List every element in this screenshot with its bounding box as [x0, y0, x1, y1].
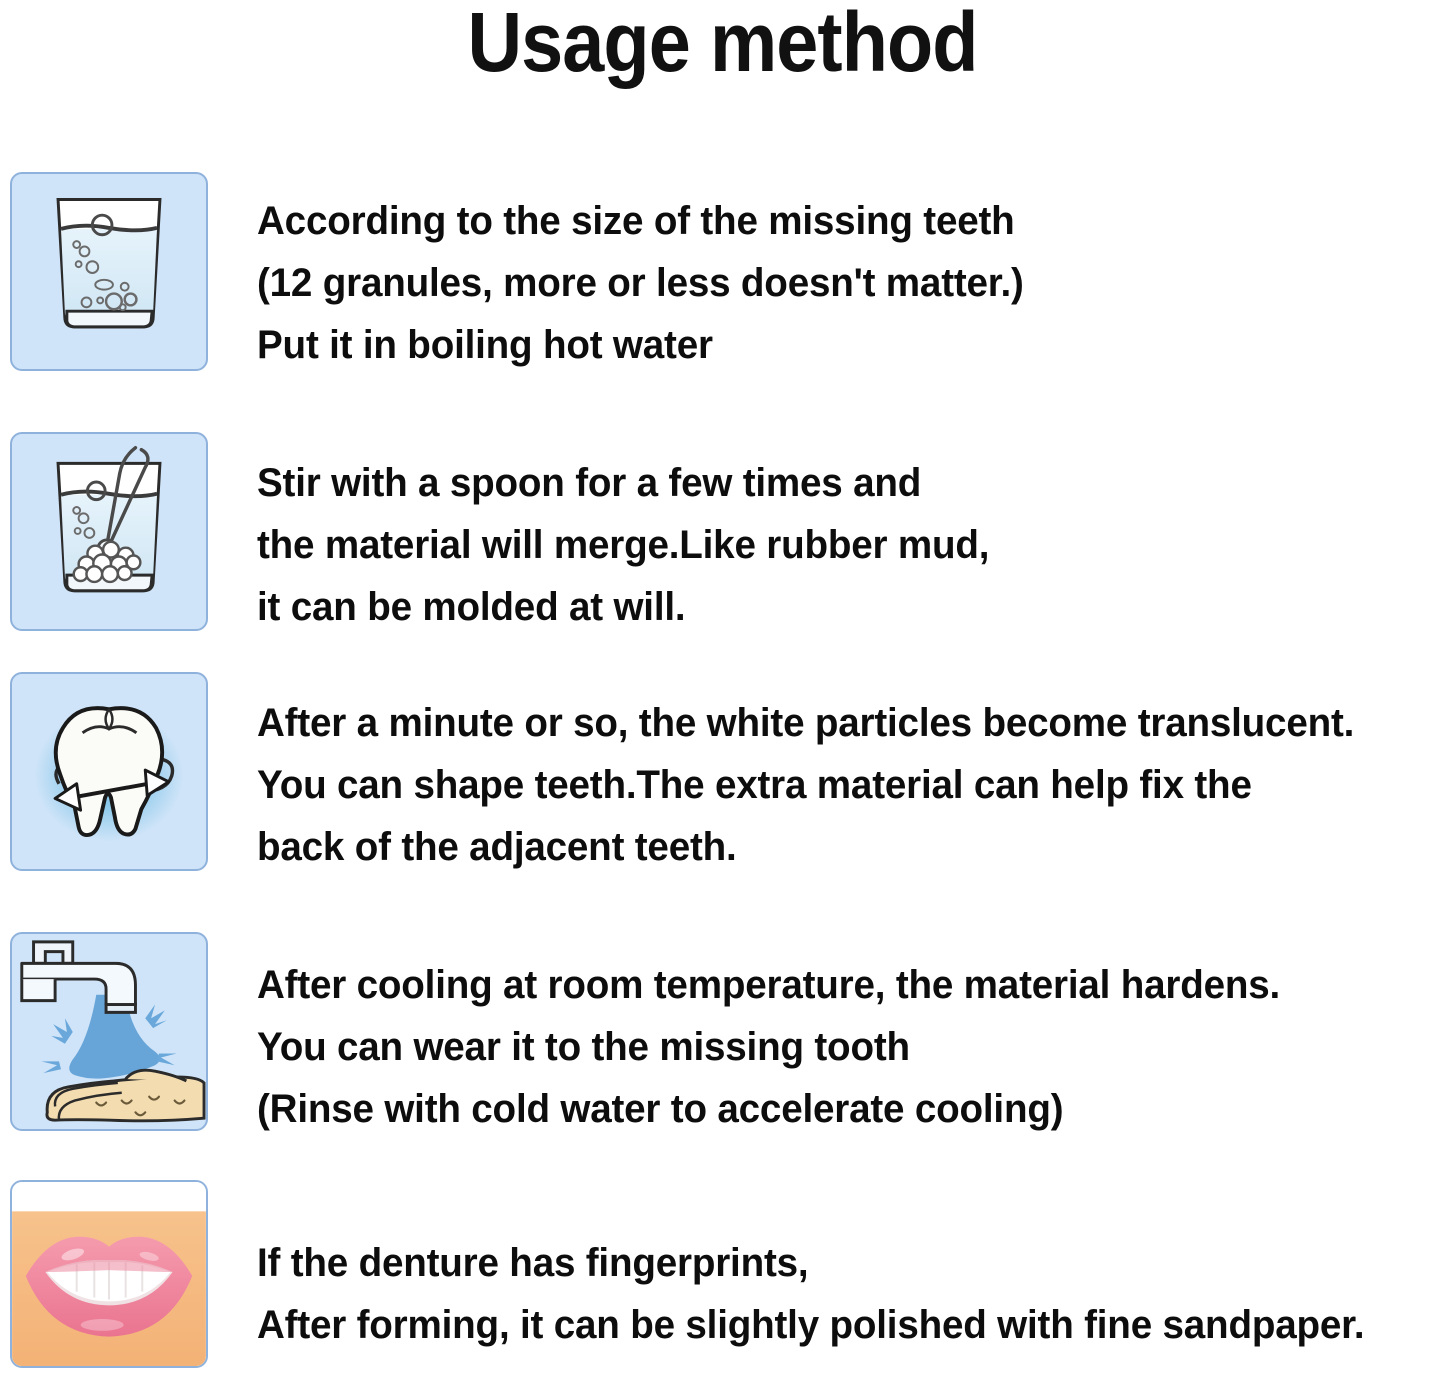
step-line: You can wear it to the missing tooth: [257, 1016, 1401, 1078]
step-line: After forming, it can be slightly polish…: [257, 1294, 1401, 1356]
step-line: (12 granules, more or less doesn't matte…: [257, 252, 1401, 314]
step-line: it can be molded at will.: [257, 576, 1401, 638]
step-line: After a minute or so, the white particle…: [257, 692, 1401, 754]
step-line: You can shape teeth.The extra material c…: [257, 754, 1401, 816]
step-line: If the denture has fingerprints,: [257, 1232, 1401, 1294]
usage-step-3-text: After a minute or so, the white particle…: [257, 692, 1401, 878]
step-line: Stir with a spoon for a few times and: [257, 452, 1401, 514]
page-title: Usage method: [72, 0, 1373, 91]
step-line: After cooling at room temperature, the m…: [257, 954, 1401, 1016]
glass-with-spoon-icon: [10, 432, 208, 631]
step-line: (Rinse with cold water to accelerate coo…: [257, 1078, 1401, 1140]
step-line: Put it in boiling hot water: [257, 314, 1401, 376]
usage-step-5-text: If the denture has fingerprints, After f…: [257, 1232, 1401, 1356]
step-line: the material will merge.Like rubber mud,: [257, 514, 1401, 576]
usage-step-1-text: According to the size of the missing tee…: [257, 190, 1401, 376]
step-line: According to the size of the missing tee…: [257, 190, 1401, 252]
usage-step-2-text: Stir with a spoon for a few times and th…: [257, 452, 1401, 638]
tooth-shaping-icon: [10, 672, 208, 871]
smiling-mouth-icon: [10, 1180, 208, 1368]
faucet-hands-icon: [10, 932, 208, 1131]
usage-step-4-text: After cooling at room temperature, the m…: [257, 954, 1401, 1140]
step-line: back of the adjacent teeth.: [257, 816, 1401, 878]
glass-of-water-icon: [10, 172, 208, 371]
